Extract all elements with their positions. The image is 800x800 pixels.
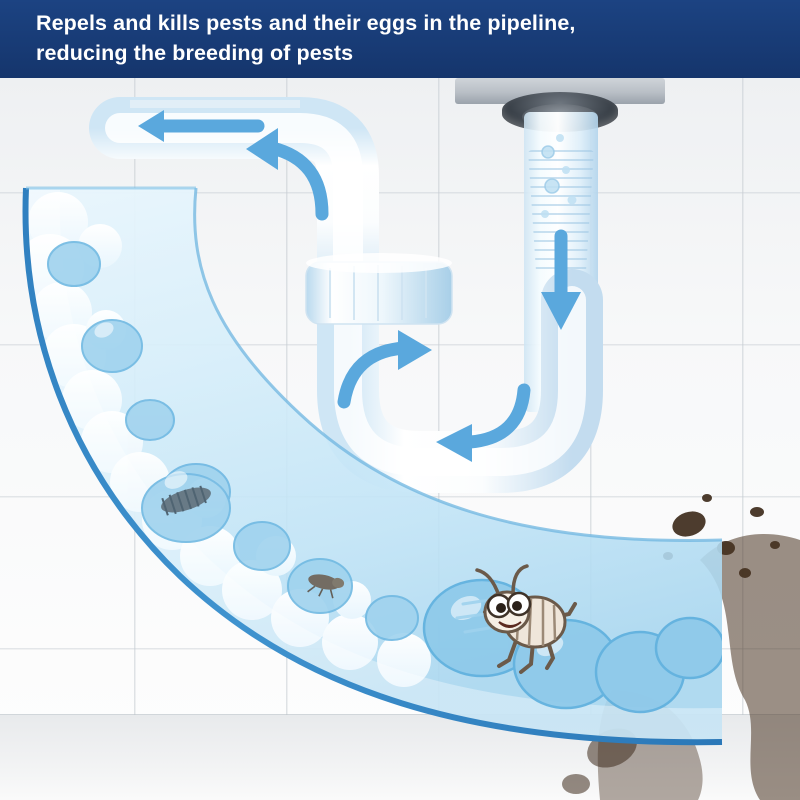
flow-arrow-down-vertical (541, 236, 581, 330)
flow-arrows (0, 0, 800, 800)
headline-banner: Repels and kills pests and their eggs in… (0, 0, 800, 78)
infographic-canvas: Repels and kills pests and their eggs in… (0, 0, 800, 800)
flow-arrow-up (246, 128, 322, 214)
cartoon-cockroach (455, 560, 585, 690)
headline-text: Repels and kills pests and their eggs in… (36, 8, 774, 68)
flow-arrow-right (344, 330, 432, 402)
flow-arrow-left (138, 110, 258, 142)
flow-arrow-down-right (436, 390, 524, 462)
